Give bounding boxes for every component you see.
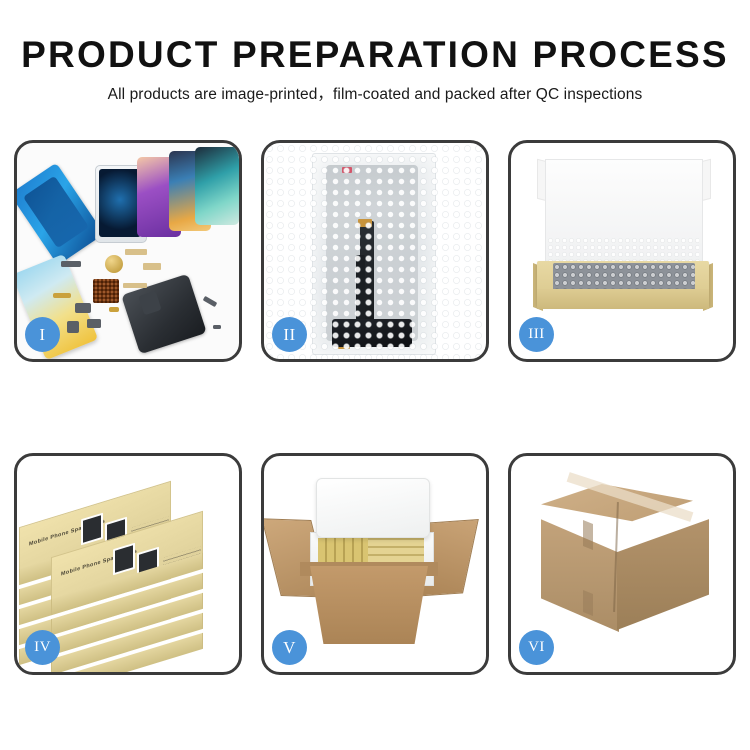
page-subtitle: All products are image-printed，film-coat… [0, 73, 750, 103]
small-chip-icon [61, 261, 81, 267]
product-preparation-infographic: PRODUCT PREPARATION PROCESS All products… [0, 0, 750, 750]
step-6-badge: VI [519, 630, 554, 665]
battery-connector-icon [75, 303, 91, 313]
foam-liner-lid [316, 478, 430, 538]
process-step-2[interactable]: II [261, 140, 489, 362]
button-flex-icon [87, 319, 101, 328]
carton-label-patch-bottom [583, 590, 593, 616]
sealed-carton-left-face [541, 512, 619, 632]
screwdriver-icon [203, 296, 218, 307]
process-step-3[interactable]: III [508, 140, 736, 362]
vibrator-icon [67, 321, 79, 333]
step-5-badge: V [272, 630, 307, 665]
process-step-4[interactable]: Mobile Phone Spare Parts Mobile Phone Sp… [14, 453, 242, 675]
step-4-badge: IV [25, 630, 60, 665]
screw-icon [213, 325, 221, 329]
teal-phone-icon [195, 147, 239, 225]
grey-bubble-wrap-contents [553, 263, 695, 291]
process-step-6[interactable]: VI [508, 453, 736, 675]
step-3-badge: III [519, 317, 554, 352]
gold-contact-icon [53, 293, 71, 298]
process-step-1[interactable]: I [14, 140, 242, 362]
carton-label-patch-top [583, 520, 593, 550]
gold-tray-front-wall [537, 289, 709, 309]
step-1-badge: I [25, 317, 60, 352]
speaker-coil-icon [105, 255, 123, 273]
sealed-carton-right-face [617, 512, 709, 630]
glass-panel-screen-icon [99, 169, 141, 237]
process-step-grid: I II [14, 140, 736, 685]
carton-body [302, 566, 436, 644]
step-2-badge: II [272, 317, 307, 352]
flex-cable-icon [125, 249, 147, 255]
process-step-5[interactable]: V [261, 453, 489, 675]
ic-chip-grid-icon [93, 279, 119, 303]
gold-contact-2-icon [109, 307, 119, 312]
flex-cable-3-icon [123, 283, 147, 288]
flex-cable-2-icon [143, 263, 161, 270]
header: PRODUCT PREPARATION PROCESS All products… [0, 0, 750, 103]
page-title: PRODUCT PREPARATION PROCESS [0, 0, 750, 73]
